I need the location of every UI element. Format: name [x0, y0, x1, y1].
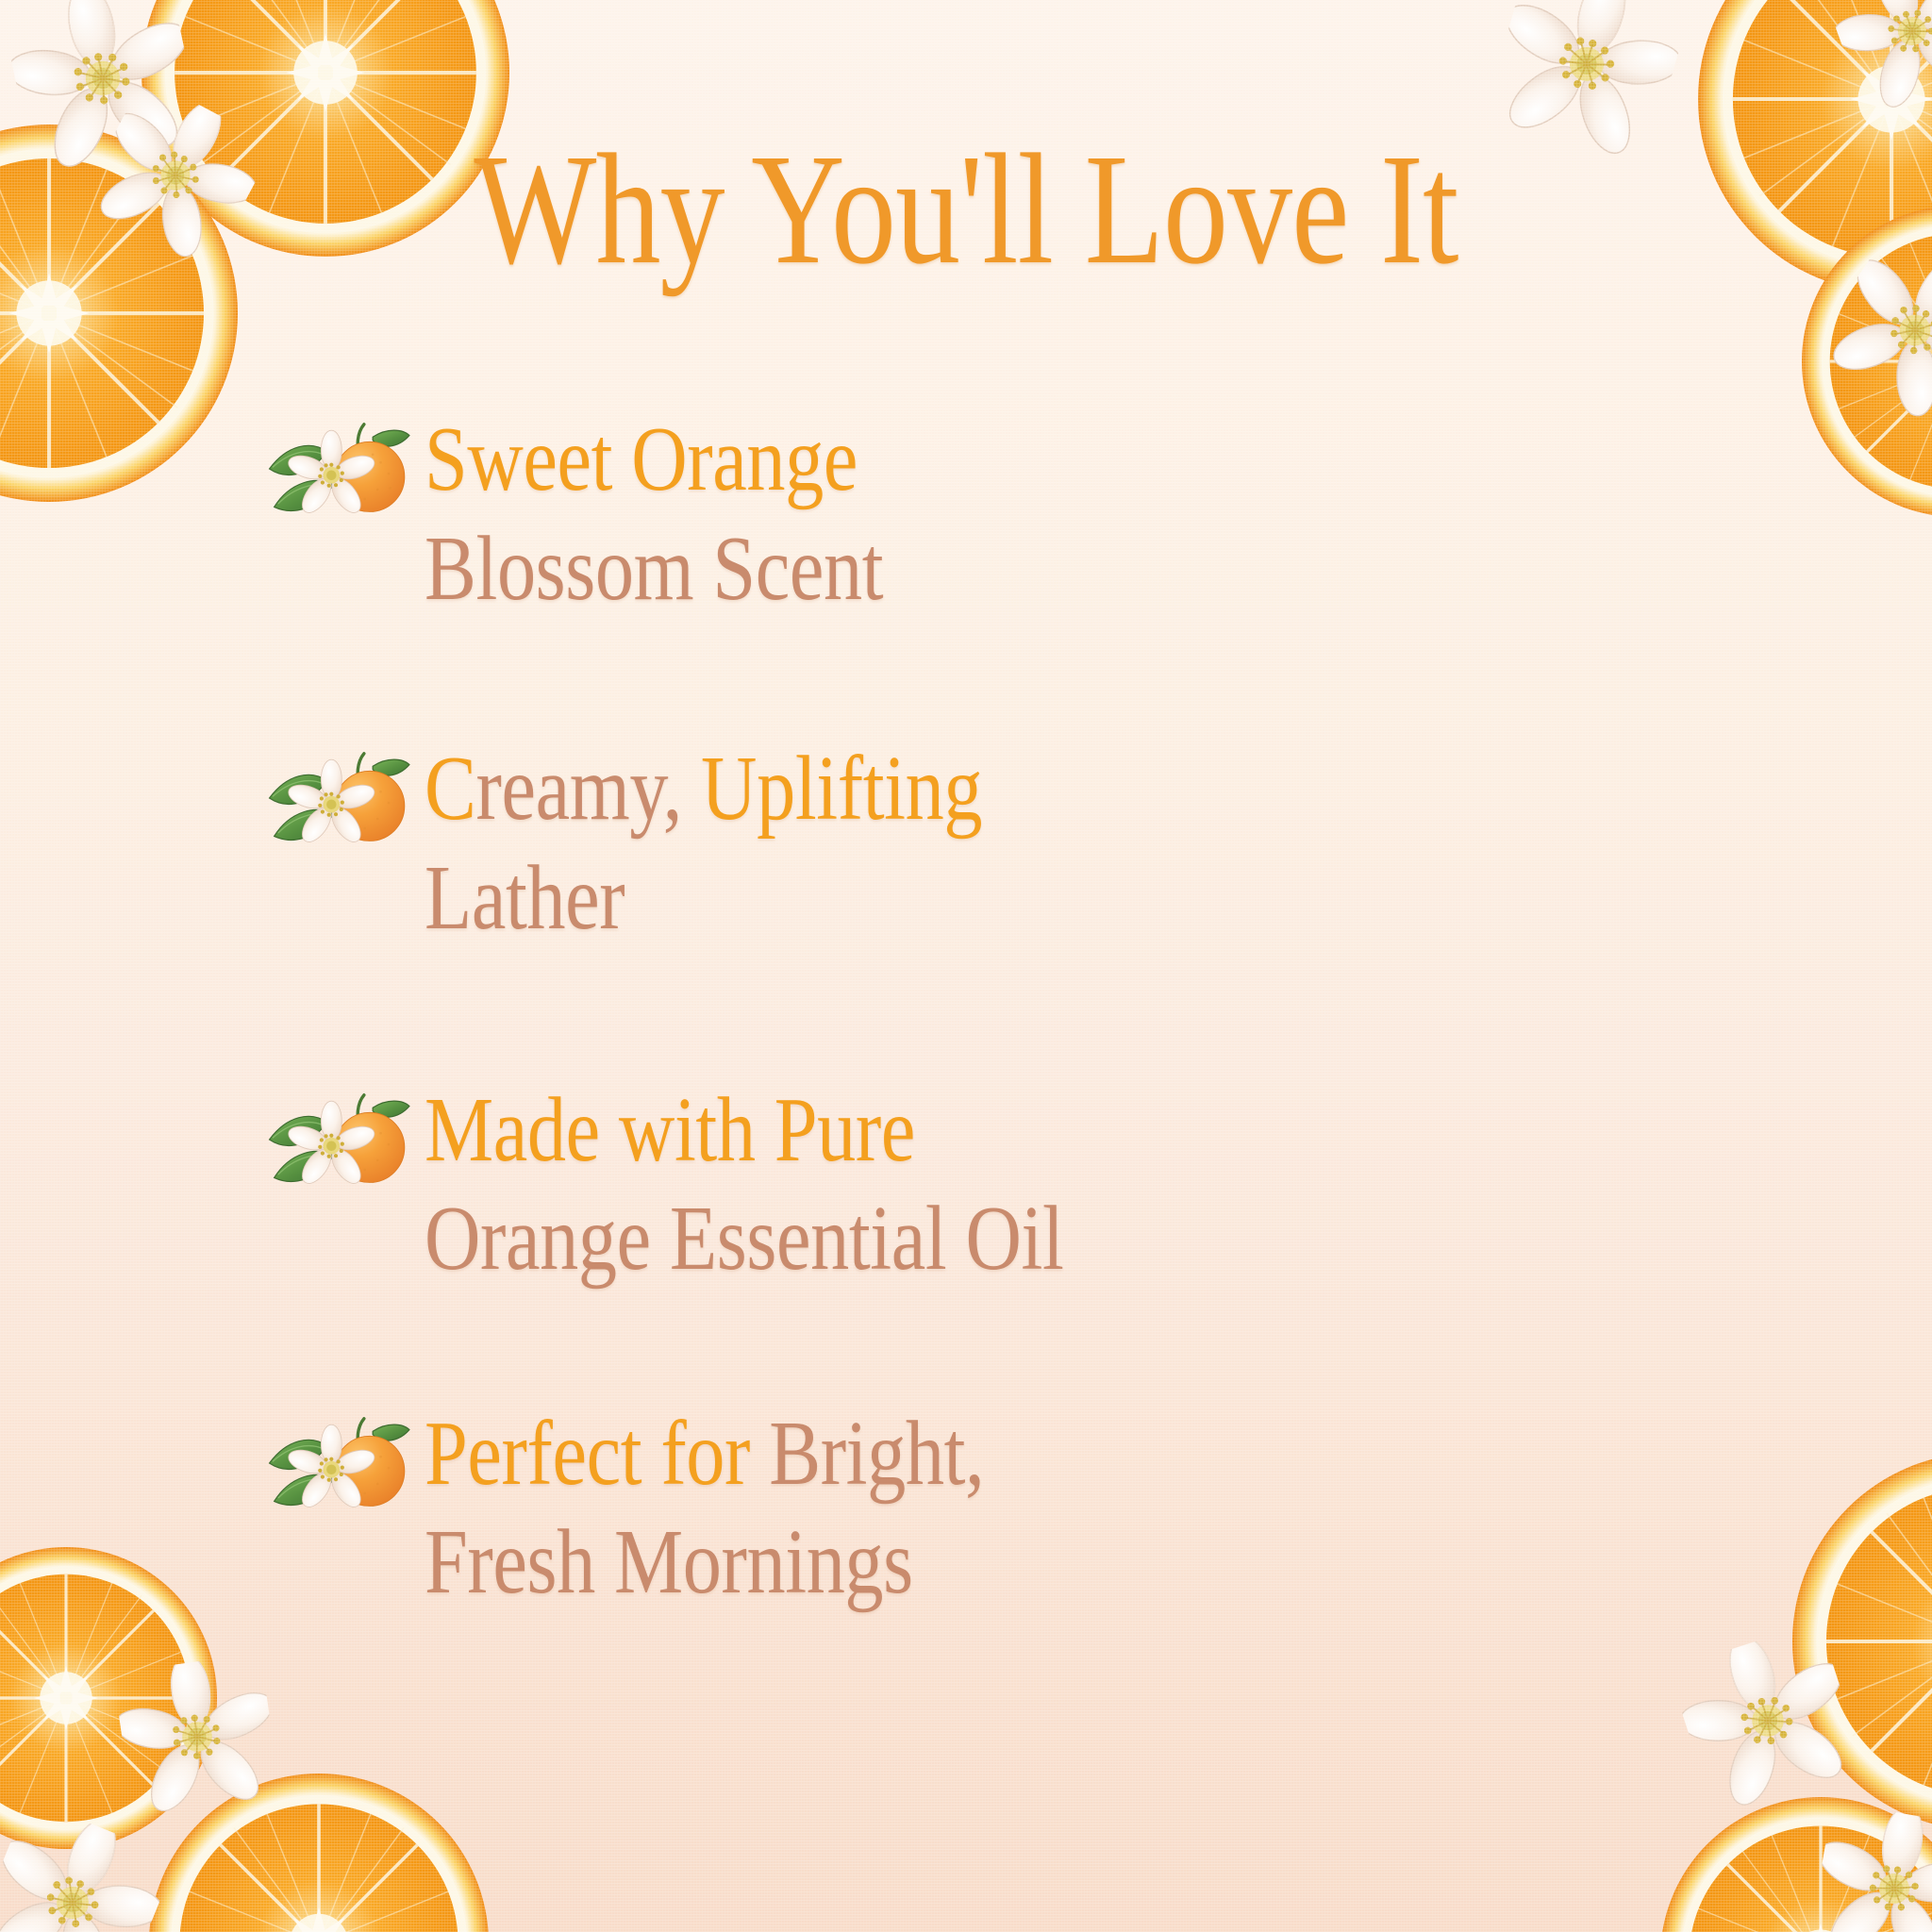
list-item-line-1-b: Bright,	[769, 1403, 984, 1505]
list-item: Perfect for Bright, Fresh Mornings	[253, 1400, 1668, 1618]
list-item-text: Creamy, Uplifting Lather	[425, 735, 1469, 953]
list-item-line-2: Orange Essential Oil	[425, 1188, 1063, 1290]
list-item-text: Made with Pure Orange Essential Oil	[425, 1076, 1469, 1294]
list-item-line-1: Sweet Orange	[425, 408, 858, 510]
orange-blossom-icon	[253, 413, 413, 525]
orange-blossom-icon	[253, 742, 413, 854]
list-item-line-2: Blossom Scent	[425, 518, 883, 620]
list-item-line-1-c: Uplifting	[682, 738, 982, 840]
list-item-line-1-b: reamy,	[475, 738, 681, 840]
promo-card: Why You'll Love It	[0, 0, 1932, 1932]
list-item-line-1: Made with Pure	[425, 1079, 915, 1181]
list-item: Sweet Orange Blossom Scent	[253, 406, 1668, 624]
benefits-list: Sweet Orange Blossom Scent	[253, 406, 1668, 1618]
list-item: Made with Pure Orange Essential Oil	[253, 1076, 1668, 1294]
list-item-line-2: Fresh Mornings	[425, 1511, 913, 1613]
list-item-line-1-a: Perfect for	[425, 1403, 769, 1505]
list-item-line-2: Lather	[425, 847, 625, 949]
list-item-text: Sweet Orange Blossom Scent	[425, 406, 1469, 624]
list-item-line-1-a: C	[425, 738, 475, 840]
list-item-text: Perfect for Bright, Fresh Mornings	[425, 1400, 1469, 1618]
list-item: Creamy, Uplifting Lather	[253, 735, 1668, 953]
orange-blossom-icon	[253, 1407, 413, 1519]
orange-blossom-icon	[253, 1084, 413, 1195]
page-title: Why You'll Love It	[174, 130, 1757, 289]
